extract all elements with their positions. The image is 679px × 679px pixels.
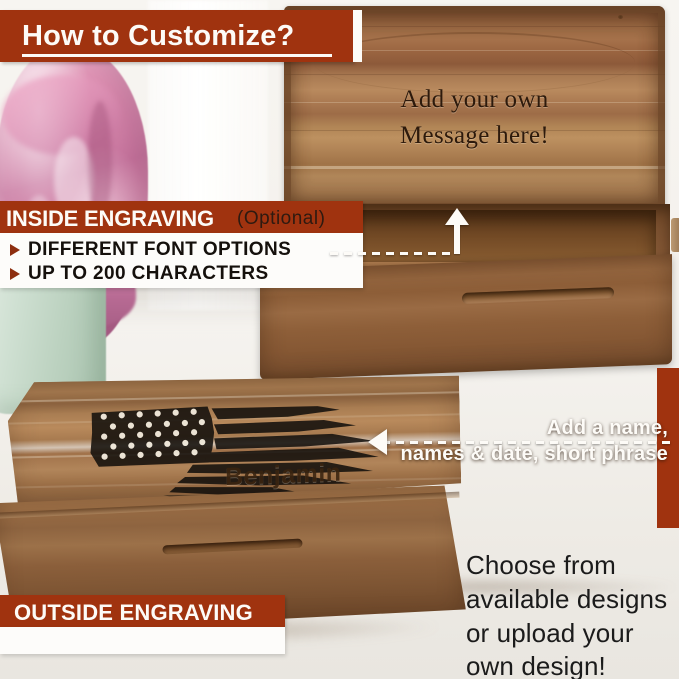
box-hinge-icon [671, 218, 679, 252]
list-item-label: UP TO 200 CHARACTERS [28, 263, 269, 285]
infographic-canvas: Add your own Message here! [0, 0, 679, 679]
inside-engraving-optional-label: (Optional) [237, 208, 325, 230]
closed-box-name-engraving: Benjamin [225, 459, 342, 492]
designs-line-2: available designs [466, 583, 679, 617]
designs-line-4: own design! [466, 650, 679, 679]
name-callout-line-2: names & date, short phrase [392, 442, 668, 468]
designs-line-1: Choose from [466, 549, 679, 583]
outside-engraving-white-bar [0, 627, 285, 654]
triangle-right-icon [10, 268, 20, 280]
list-item: UP TO 200 CHARACTERS [10, 263, 269, 285]
header-banner: How to Customize? [0, 10, 353, 62]
name-callout: Add a name, names & date, short phrase [392, 416, 668, 467]
designs-line-3: or upload your [466, 617, 679, 651]
inside-engraving-title: INSIDE ENGRAVING [6, 206, 214, 232]
header-underline [22, 54, 332, 57]
lid-message-line-2: Message here! [284, 118, 665, 154]
page-title: How to Customize? [22, 20, 294, 53]
inside-engraving-banner: INSIDE ENGRAVING (Optional) [0, 201, 363, 233]
list-item: DIFFERENT FONT OPTIONS [10, 239, 291, 261]
designs-callout: Choose from available designs or upload … [466, 549, 679, 679]
lid-engraved-message: Add your own Message here! [284, 82, 665, 153]
lid-message-line-1: Add your own [284, 82, 665, 118]
inside-callout-dashed-line [330, 252, 452, 255]
outside-engraving-banner: OUTSIDE ENGRAVING [0, 595, 285, 627]
triangle-right-icon [10, 244, 20, 256]
inside-engraving-feature-list: DIFFERENT FONT OPTIONS UP TO 200 CHARACT… [0, 233, 363, 288]
list-item-label: DIFFERENT FONT OPTIONS [28, 239, 291, 261]
outside-engraving-title: OUTSIDE ENGRAVING [14, 600, 253, 626]
name-callout-line-1: Add a name, [392, 416, 668, 442]
header-banner-tab [353, 10, 362, 62]
arrow-left-icon [368, 429, 387, 455]
